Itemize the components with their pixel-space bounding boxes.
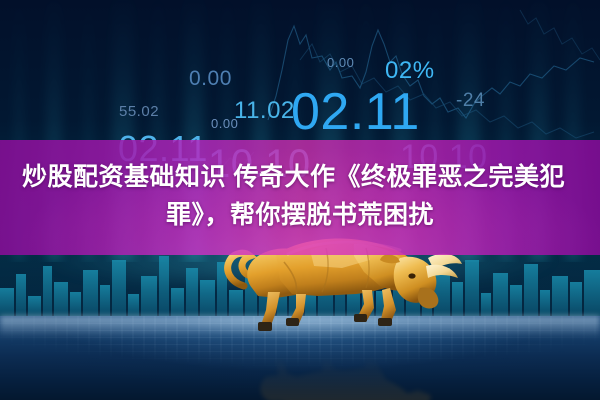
background-number: 0.00	[189, 67, 232, 91]
chart-bar	[141, 276, 157, 318]
chart-bar	[510, 285, 522, 318]
background-number: 55.02	[119, 103, 159, 120]
chart-bar	[584, 270, 600, 318]
chart-bar	[54, 282, 68, 318]
background-number: 11.02	[234, 97, 295, 125]
bull-reflection	[214, 338, 464, 400]
chart-bar	[43, 266, 52, 318]
background-number: -24	[456, 90, 485, 112]
chart-bar	[540, 290, 550, 318]
chart-bar	[112, 260, 126, 318]
chart-bar	[186, 268, 198, 318]
chart-bar	[16, 274, 26, 318]
chart-bar	[70, 292, 81, 318]
chart-bar	[0, 288, 14, 318]
chart-bar	[128, 294, 139, 318]
chart-bar	[28, 296, 41, 318]
chart-bar	[524, 264, 538, 318]
page-title: 炒股配资基础知识 传奇大作《终极罪恶之完美犯 罪》，帮你摆脱书荒困扰	[0, 158, 600, 234]
title-line-2: 罪》，帮你摆脱书荒困扰	[18, 196, 582, 234]
chart-bar	[465, 260, 479, 318]
background-number: 02.11	[291, 82, 420, 142]
banner-image: 0.0055.020.0011.0202.110.0002%-2402.1110…	[0, 0, 600, 400]
chart-bar	[200, 280, 215, 318]
chart-bar	[159, 256, 169, 318]
chart-bar	[83, 270, 98, 318]
chart-bar	[100, 285, 110, 318]
title-line-1: 炒股配资基础知识 传奇大作《终极罪恶之完美犯	[18, 158, 582, 196]
chart-bar	[171, 288, 184, 318]
chart-bar	[552, 276, 568, 318]
background-number: 02%	[385, 57, 435, 85]
chart-bar	[570, 282, 582, 318]
background-number: 0.00	[327, 55, 354, 70]
chart-bar	[493, 273, 508, 318]
chart-bar	[481, 293, 491, 318]
